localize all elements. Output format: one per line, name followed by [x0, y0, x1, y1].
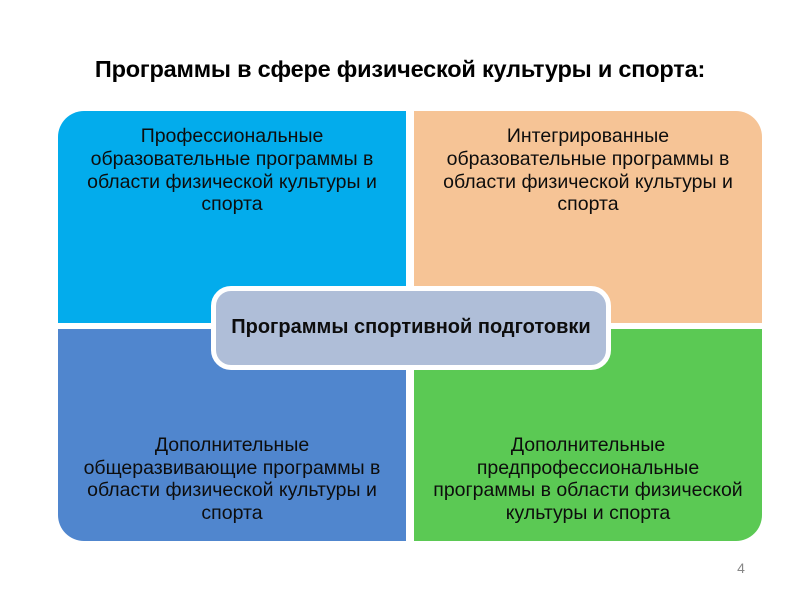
page-title: Программы в сфере физической культуры и … — [40, 56, 760, 83]
quadrant-top-left-label: Профессиональные образовательные програм… — [72, 125, 392, 216]
quadrant-top-right-label: Интегрированные образовательные программ… — [428, 125, 748, 216]
quadrant-bottom-left-label: Дополнительные общеразвивающие программы… — [72, 434, 392, 525]
slide-number: 4 — [726, 560, 756, 576]
quadrant-bottom-right-label: Дополнительные предпрофессиональные прог… — [428, 434, 748, 525]
matrix-diagram: Профессиональные образовательные програм… — [58, 111, 762, 541]
center-callout[interactable]: Программы спортивной подготовки — [211, 286, 611, 370]
center-callout-label: Программы спортивной подготовки — [216, 316, 606, 340]
slide-canvas: Программы в сфере физической культуры и … — [0, 0, 800, 600]
